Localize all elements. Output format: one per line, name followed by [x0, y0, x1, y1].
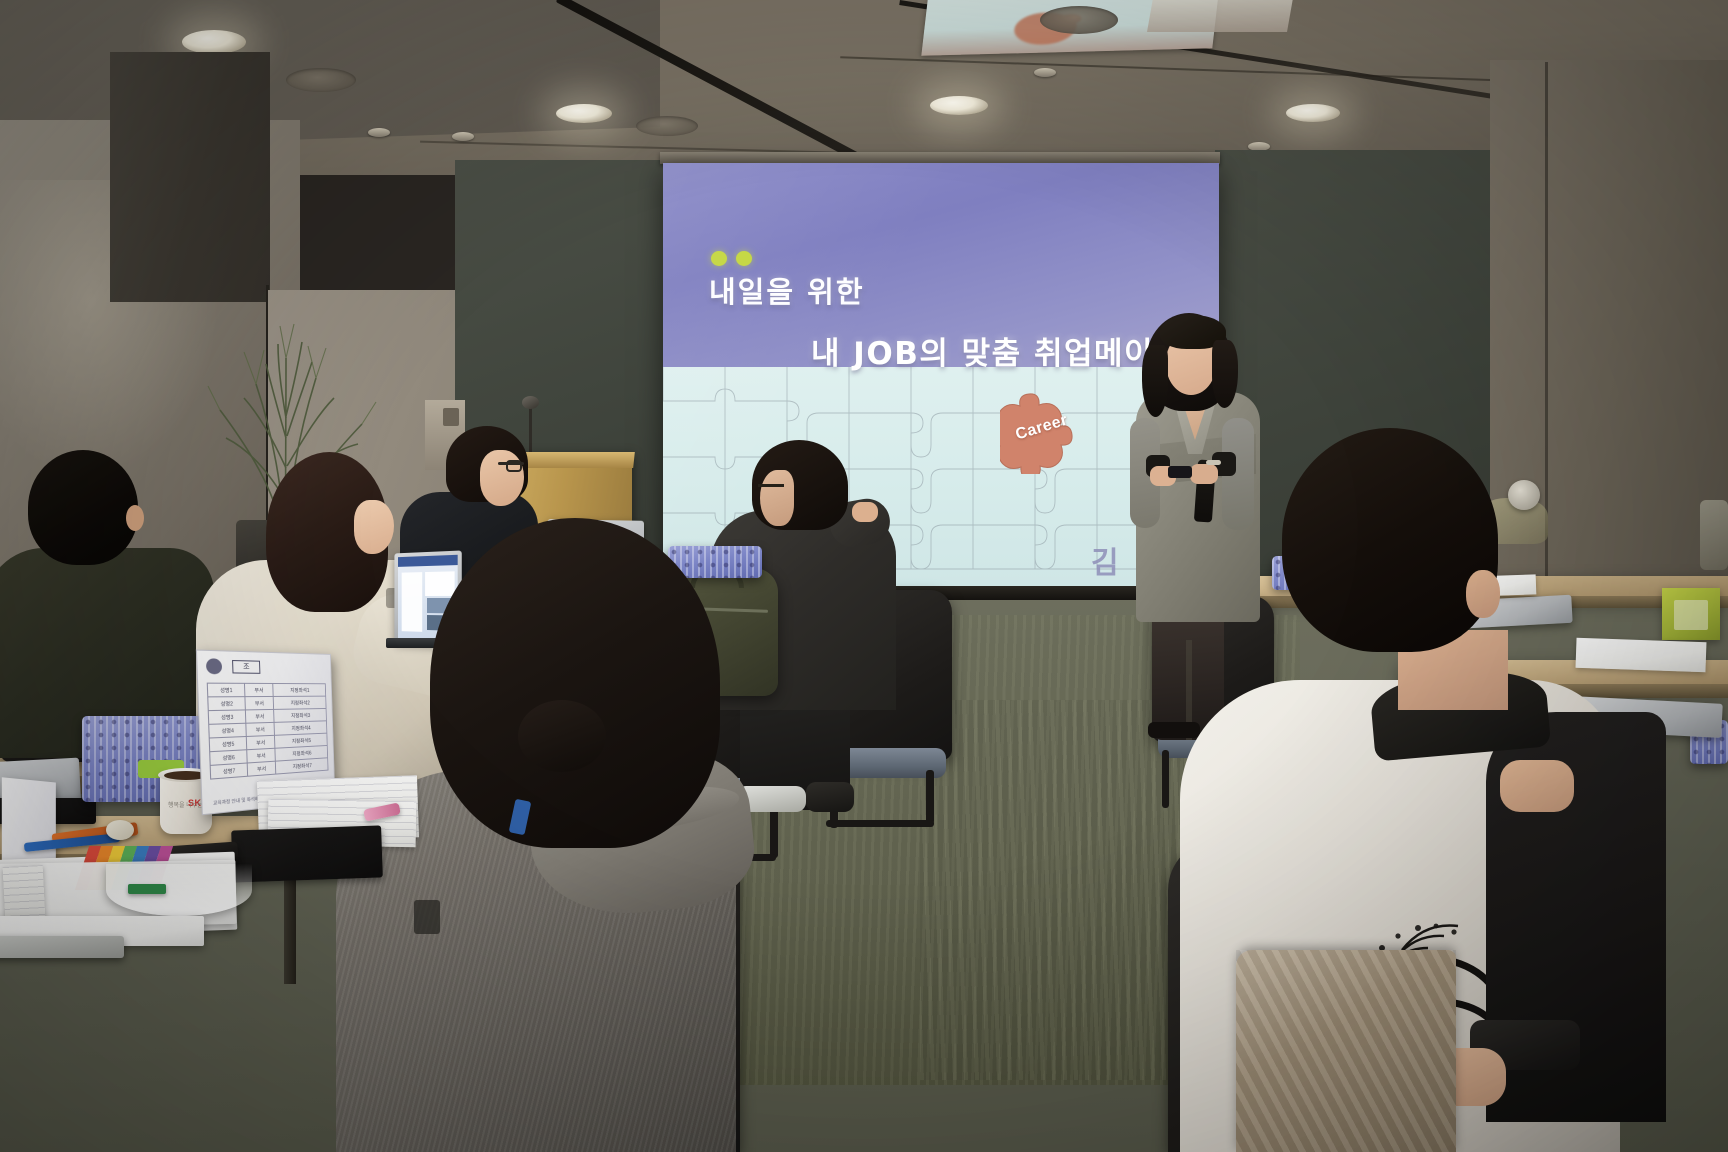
seating-chart-cell: 성명2	[208, 697, 245, 711]
laptop-edge-foreground[interactable]	[0, 936, 124, 958]
ceiling-downlight-icon	[182, 30, 246, 54]
ceiling-speaker-icon	[286, 68, 356, 92]
ceiling-speaker-icon	[1040, 6, 1118, 34]
ceiling-downlight-icon	[1286, 104, 1340, 122]
ceiling-downlight-icon	[930, 96, 988, 115]
seating-chart-row: 성명1부서지정좌석1	[207, 683, 325, 697]
chair-base	[826, 820, 934, 827]
glasses-lens-icon	[506, 460, 522, 472]
wall-cabinet	[110, 52, 270, 302]
seating-chart-cell: 부서	[246, 722, 275, 736]
attendee-head	[28, 450, 138, 565]
wall-clock-icon	[1508, 480, 1540, 510]
product-box-label	[1674, 600, 1708, 630]
glasses-icon	[758, 484, 784, 487]
attendee-hand	[852, 502, 878, 522]
attendee-hair	[430, 518, 720, 848]
brochure-text-panel	[3, 865, 46, 921]
presenter-right-hand	[1190, 464, 1218, 484]
attendee-ear	[1466, 570, 1500, 618]
seating-chart-cell: 부서	[245, 696, 274, 709]
attendee-face	[760, 470, 794, 526]
ceiling-sprinkler-icon	[452, 132, 474, 141]
attendee-shoe	[806, 782, 854, 812]
browser-sidebar	[402, 572, 423, 632]
seminar-room-photo: 내일을 위한 내 JOB의 맞춤 취업메이킹 Career 김 현 ○ ㄴ	[0, 0, 1728, 1152]
seating-chart-cell: 부서	[245, 709, 274, 723]
browser-post	[425, 571, 455, 596]
seating-chart-cell: 부서	[244, 683, 273, 696]
ceiling-sprinkler-icon	[1034, 68, 1056, 77]
attendee-hair	[1282, 428, 1498, 652]
slide-title-line-2: 내 JOB의 맞춤 취업메이킹	[811, 328, 1184, 373]
brochure-logo-bar	[128, 884, 166, 894]
chair-leg	[1162, 750, 1169, 808]
paper-stack	[1576, 638, 1707, 673]
wall-outlet	[443, 408, 459, 426]
hoodie-brand-logo	[414, 900, 440, 934]
seating-chart-cell: 성명7	[210, 763, 247, 779]
seating-chart-cell: 지정좌석7	[275, 758, 328, 774]
seating-chart-cell: 성명3	[208, 710, 245, 724]
presenter-bracelet	[1206, 460, 1221, 465]
seating-chart-table: 성명1부서지정좌석1성명2부서지정좌석2성명3부서지정좌석3성명4부서지정좌석4…	[207, 683, 329, 780]
presenter-shoe	[1148, 722, 1200, 738]
slide-bullet-dots-icon	[711, 251, 761, 271]
seating-chart-cell: 지정좌석2	[273, 696, 326, 709]
attendee-ear	[126, 505, 144, 531]
presenter-clicker-remote[interactable]	[1168, 466, 1192, 478]
ceiling-sprinkler-icon	[368, 128, 390, 137]
tape-roll[interactable]	[106, 820, 134, 840]
sign-group-badge: 조	[232, 660, 260, 674]
presenter-hair-side	[1142, 345, 1168, 417]
draped-fabric	[1236, 950, 1456, 1152]
ceiling-downlight-icon	[556, 104, 612, 123]
organization-logo-icon	[206, 658, 222, 674]
chair-leg	[926, 770, 934, 824]
seating-chart-cell: 지정좌석1	[273, 683, 326, 696]
attendee-hair-bun	[518, 700, 606, 772]
fabric-pattern	[1236, 950, 1456, 1152]
browser-header-bar	[398, 555, 458, 567]
black-folder[interactable]	[231, 825, 383, 882]
wrapped-plant-bag	[1700, 500, 1728, 570]
cup-brand-tagline: 행복을 나누는	[168, 800, 203, 809]
seating-chart-cell: 부서	[247, 761, 276, 776]
table-leg	[284, 874, 296, 984]
ceiling-reflection-panel-2	[1147, 0, 1293, 32]
seating-chart-cell: 성명1	[207, 683, 245, 697]
ceiling-speaker-icon	[636, 116, 698, 136]
attendee-hand-right	[1500, 760, 1574, 812]
paper-text-lines	[3, 865, 46, 921]
slide-title-line-1: 내일을 위한	[709, 269, 865, 311]
microphone-icon	[522, 396, 539, 409]
